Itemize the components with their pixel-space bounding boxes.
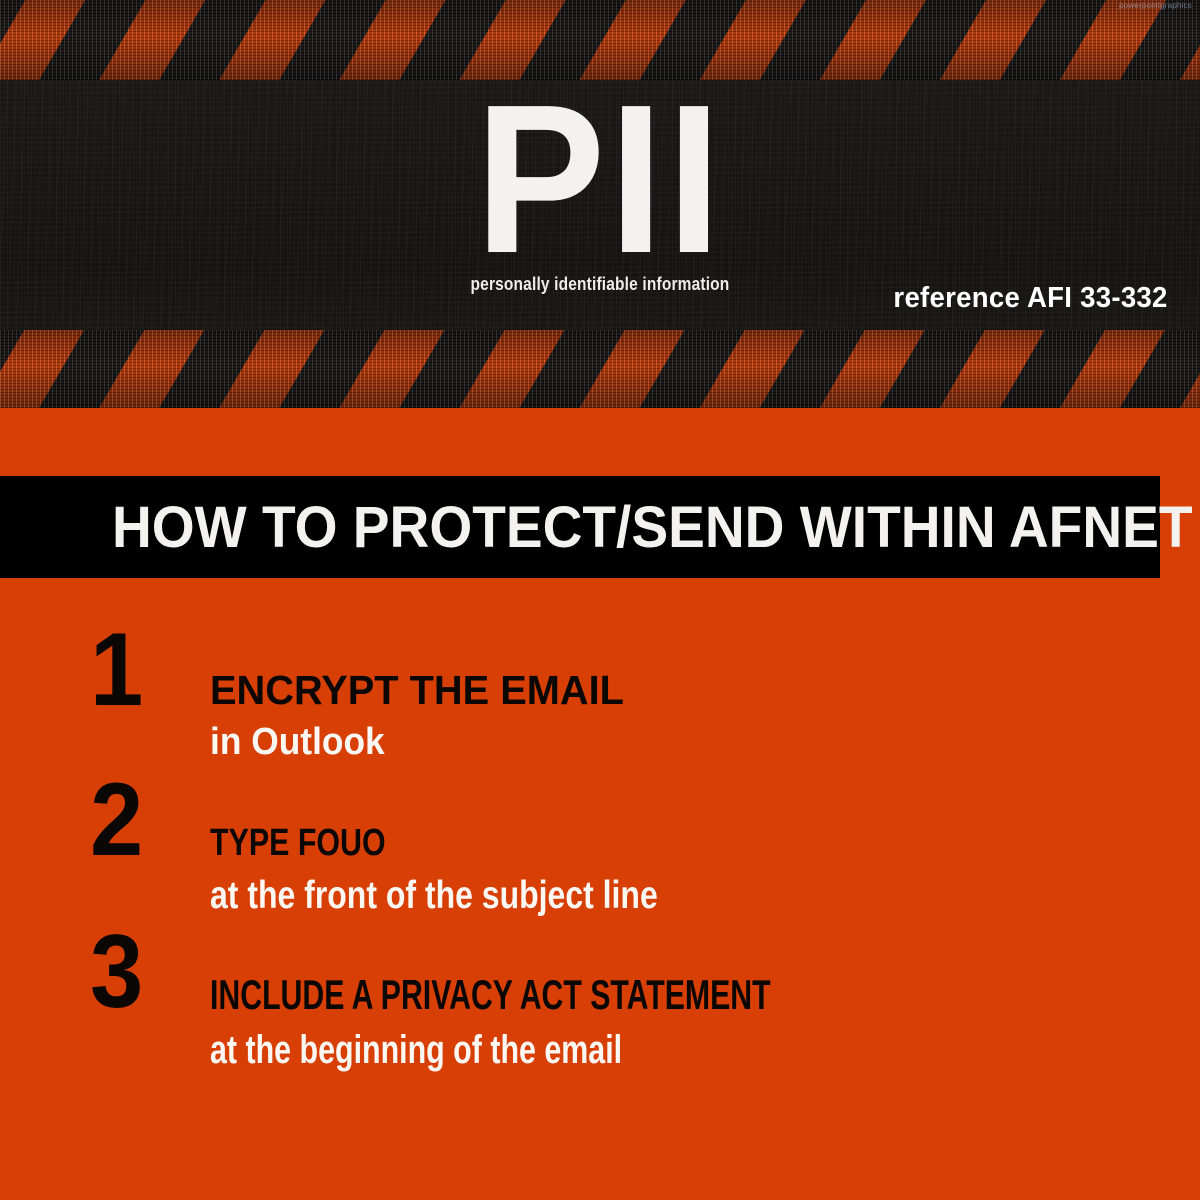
- hazard-stripe-band-bottom: [0, 330, 1200, 408]
- header-panel: powerpointgraphics PII personally identi…: [0, 0, 1200, 408]
- list-item: 3 INCLUDE A PRIVACY ACT STATEMENT at the…: [90, 920, 1200, 1070]
- step-heading: INCLUDE A PRIVACY ACT STATEMENT: [210, 974, 923, 1016]
- section-banner-title: HOW TO PROTECT/SEND WITHIN AFNET: [112, 494, 1193, 561]
- page-title: PII: [48, 92, 1152, 266]
- step-heading: TYPE FOUO: [210, 824, 1002, 862]
- step-number: 1: [90, 618, 189, 722]
- step-detail: in Outlook: [210, 723, 1131, 761]
- step-body: INCLUDE A PRIVACY ACT STATEMENT at the b…: [210, 920, 1200, 1070]
- title-block: PII personally identifiable information: [0, 92, 1200, 295]
- pii-infographic-poster: powerpointgraphics PII personally identi…: [0, 0, 1200, 1200]
- step-number: 3: [90, 920, 189, 1024]
- step-number: 2: [90, 768, 189, 872]
- watermark-label: powerpointgraphics: [1119, 1, 1192, 10]
- step-detail: at the beginning of the email: [210, 1030, 962, 1070]
- step-body: ENCRYPT THE EMAIL in Outlook: [210, 618, 1200, 761]
- steps-list: 1 ENCRYPT THE EMAIL in Outlook 2 TYPE FO…: [0, 618, 1200, 1070]
- step-heading: ENCRYPT THE EMAIL: [210, 670, 1170, 711]
- step-body: TYPE FOUO at the front of the subject li…: [210, 768, 1200, 915]
- list-item: 1 ENCRYPT THE EMAIL in Outlook: [90, 618, 1200, 768]
- step-detail: at the front of the subject line: [210, 876, 1022, 915]
- list-item: 2 TYPE FOUO at the front of the subject …: [90, 768, 1200, 920]
- section-banner: HOW TO PROTECT/SEND WITHIN AFNET: [0, 476, 1160, 578]
- reference-label: reference AFI 33-332: [894, 282, 1168, 315]
